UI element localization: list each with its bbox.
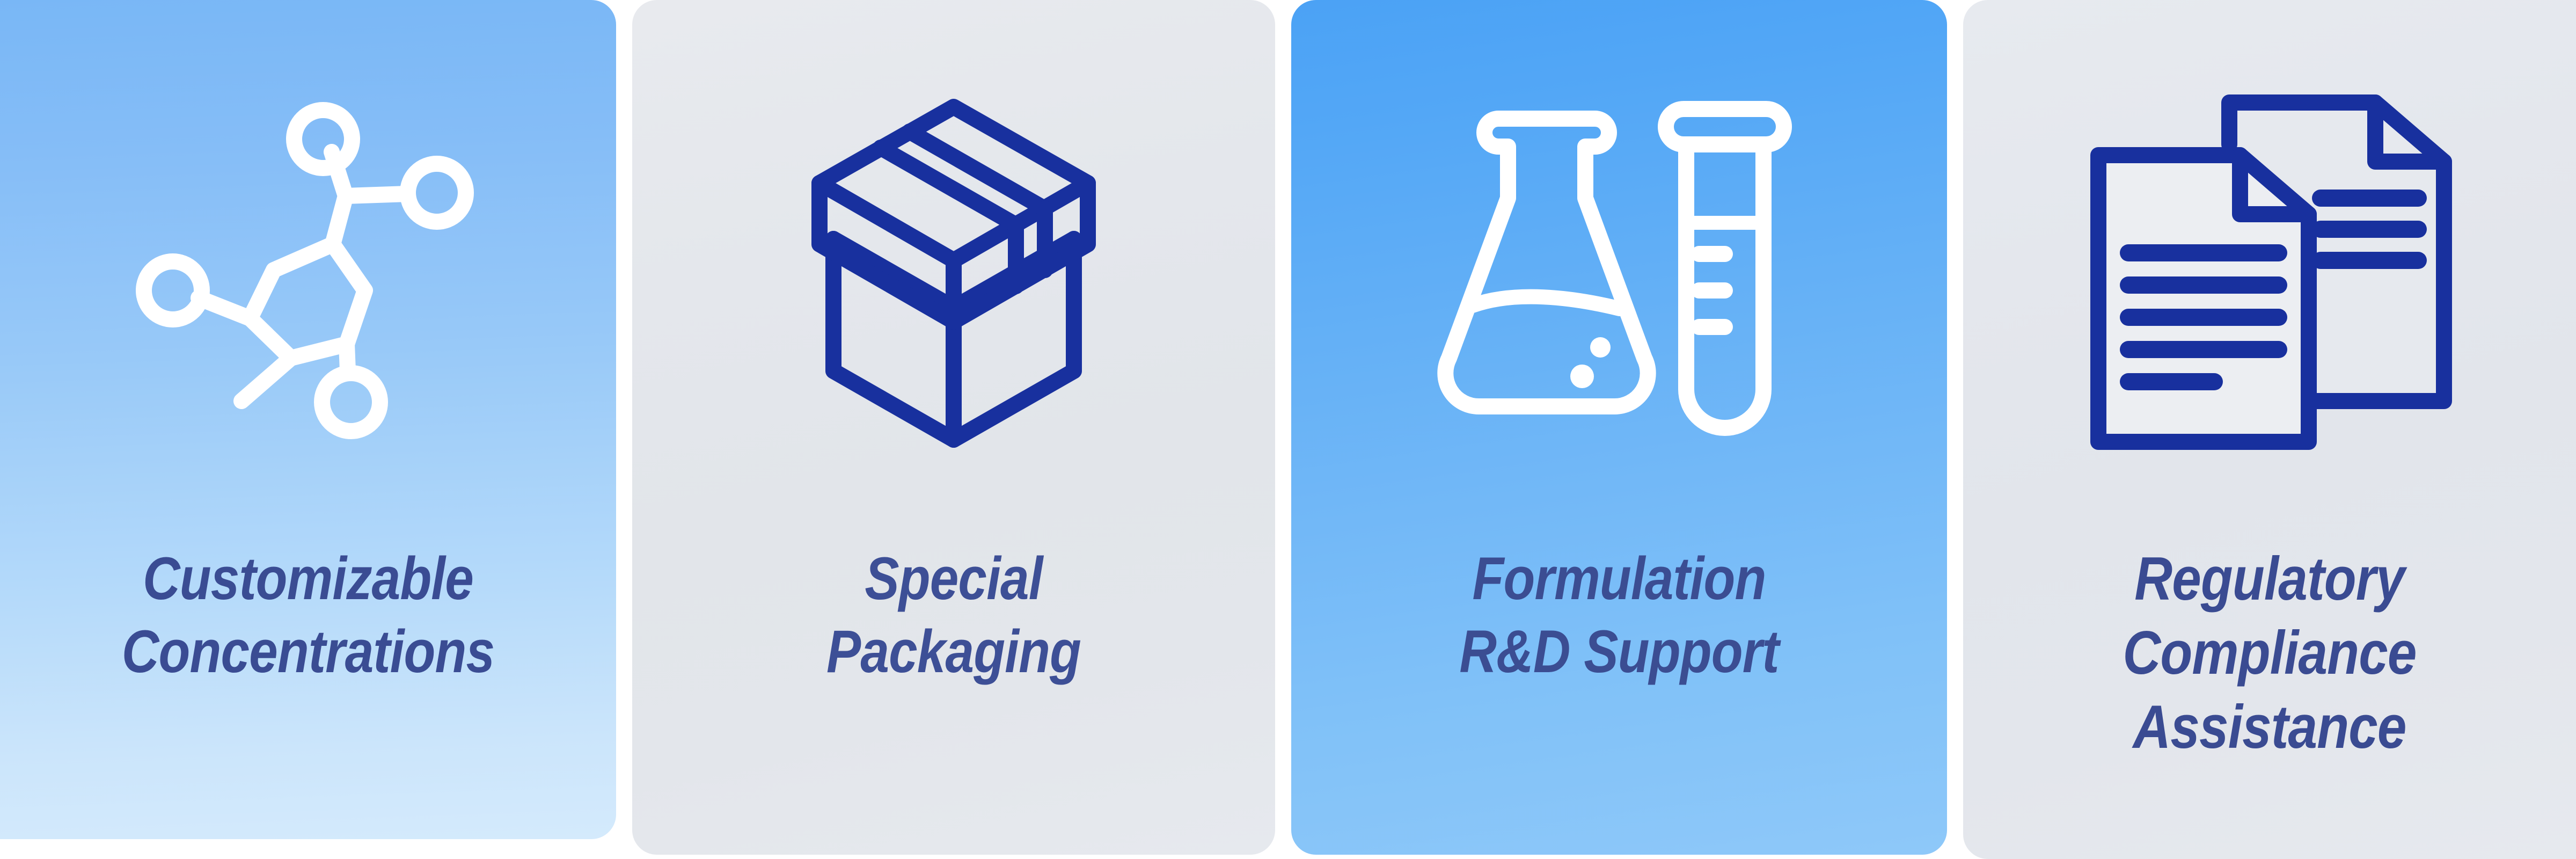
molecule-icon xyxy=(0,0,616,542)
feature-card-special-packaging[interactable]: Special Packaging xyxy=(632,0,1275,855)
feature-card-regulatory-compliance-assistance[interactable]: Regulatory Compliance Assistance xyxy=(1963,0,2576,859)
feature-card-formulation-rd-support[interactable]: Formulation R&D Support xyxy=(1291,0,1947,855)
flask-test-tube-icon xyxy=(1291,0,1947,542)
card-caption: Regulatory Compliance Assistance xyxy=(2006,542,2533,765)
feature-card-row: Customizable Concentrations xyxy=(0,0,2576,859)
documents-icon xyxy=(1963,0,2576,542)
package-box-icon xyxy=(632,0,1275,542)
card-caption: Special Packaging xyxy=(677,542,1230,688)
feature-card-customizable-concentrations[interactable]: Customizable Concentrations xyxy=(0,0,616,839)
card-caption: Customizable Concentrations xyxy=(43,542,573,688)
card-caption: Formulation R&D Support xyxy=(1337,542,1901,688)
